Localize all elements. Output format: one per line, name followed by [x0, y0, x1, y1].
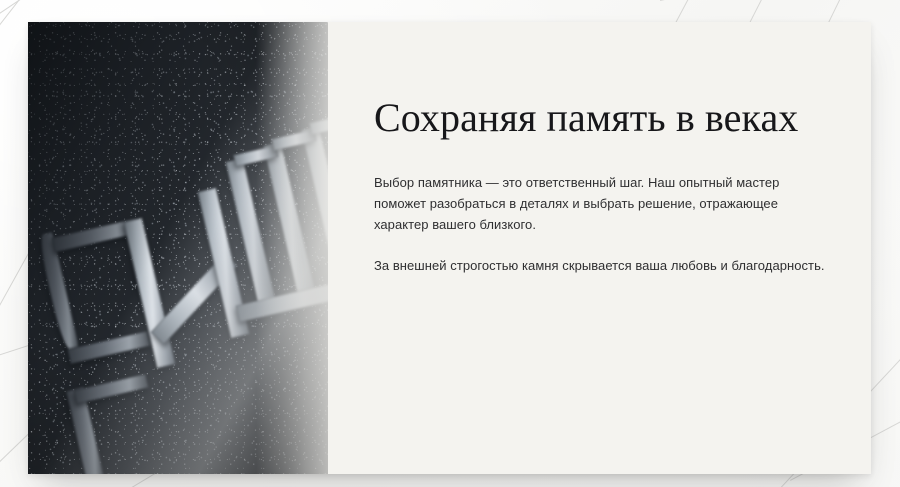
slide-body: Выбор памятника — это ответственный шаг.…: [374, 172, 826, 276]
body-paragraph-1: Выбор памятника — это ответственный шаг.…: [374, 172, 826, 235]
body-paragraph-2: За внешней строгостью камня скрывается в…: [374, 255, 826, 276]
engraved-granite-monument-photo: [28, 22, 328, 474]
slide-headline: Сохраняя память в веках: [374, 96, 827, 141]
slide-canvas: Сохраняя память в веках Выбор памятника …: [0, 0, 900, 487]
engraved-letters: [28, 22, 328, 474]
slide-card: Сохраняя память в веках Выбор памятника …: [28, 22, 871, 474]
text-panel: Сохраняя память в веках Выбор памятника …: [328, 22, 871, 474]
